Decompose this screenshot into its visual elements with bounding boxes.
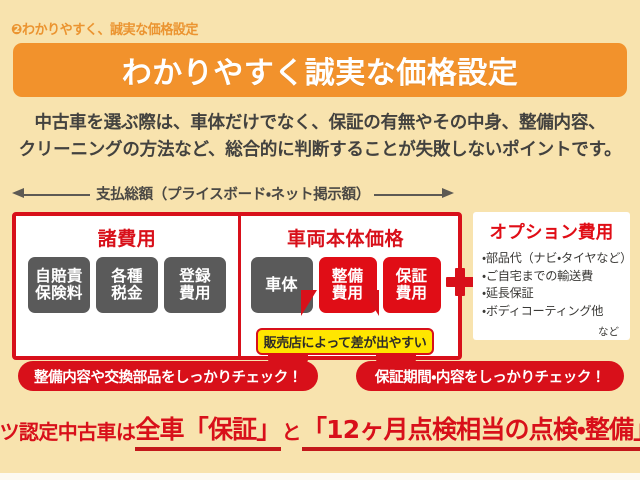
option-title: オプション費用 — [482, 219, 621, 244]
chip-line-2: 税金 — [111, 285, 143, 302]
option-list-item: ・ご自宅までの輸送費 — [482, 268, 621, 286]
option-list: ・部品代（ナビ・タイヤなど） ・ご自宅までの輸送費 ・延長保証 ・ボディコーティ… — [482, 250, 621, 321]
option-list-item: ・延長保証 — [482, 285, 621, 303]
bottom-strip — [0, 473, 640, 480]
section-kicker: ❷わかりやすく、誠実な価格設定 — [11, 18, 198, 38]
kicker-text: わかりやすく、誠実な価格設定 — [22, 22, 198, 38]
connector-wedge-warranty — [363, 290, 379, 316]
vehicle-chip-group: 車体 整備 費用 保証 費用 — [251, 257, 441, 313]
arrow-right-icon — [442, 188, 454, 198]
lead-line-1: 中古車を選ぶ際は、車体だけでなく、保証の有無やその中身、整備内容、 — [0, 110, 640, 137]
bottom-headline: ダイハツ認定中古車は 全車「保証」 と 「12ヶ月点検相当の点検・整備」 付き — [0, 410, 640, 450]
lead-paragraph: 中古車を選ぶ際は、車体だけでなく、保証の有無やその中身、整備内容、 クリーニング… — [0, 110, 640, 164]
total-amount-label: 支払総額（プライスボード・ネット掲示額） — [90, 183, 376, 204]
plus-icon — [446, 268, 474, 296]
check-banner-text: 整備内容や交換部品をしっかりチェック！ — [34, 366, 302, 387]
vehicle-title: 車両本体価格 — [287, 224, 404, 251]
fee-chip-tax: 各種 税金 — [96, 257, 158, 313]
chip-line-1: 車体 — [265, 276, 298, 294]
option-list-item: ・部品代（ナビ・タイヤなど） — [482, 250, 621, 268]
chip-line-2: 保険料 — [35, 285, 82, 302]
connector-wedge-maintenance — [301, 290, 317, 316]
lead-line-2: クリーニングの方法など、総合的に判断することが失敗しないポイントです。 — [0, 137, 640, 164]
banner-title: わかりやすく誠実な価格設定 — [122, 48, 519, 92]
chip-line-1: 各種 — [111, 268, 143, 285]
check-banner-maintenance: 整備内容や交換部品をしっかりチェック！ — [18, 361, 318, 391]
option-list-item: ・ボディコーティング他 — [482, 303, 621, 321]
dealer-variance-badge: 販売店によって差が出やすい — [256, 328, 434, 355]
fee-chip-registration: 登録 費用 — [164, 257, 226, 313]
chip-line-1: 登録 — [179, 268, 211, 285]
fees-chip-group: 自賠責 保険料 各種 税金 登録 費用 — [28, 257, 226, 313]
headline-part-1: ダイハツ認定中古車は — [0, 416, 135, 445]
chip-line-2: 費用 — [396, 285, 428, 302]
chip-line-1: 保証 — [396, 268, 428, 285]
bracket-line-right — [374, 194, 442, 196]
bracket-line-left — [24, 194, 92, 196]
chip-line-2: 費用 — [179, 285, 211, 302]
arrow-left-icon — [12, 188, 24, 198]
headline-part-2: 全車「保証」 — [135, 410, 280, 451]
infographic-root: ❷わかりやすく、誠実な価格設定 わかりやすく誠実な価格設定 中古車を選ぶ際は、車… — [0, 0, 640, 480]
total-amount-bracket: 支払総額（プライスボード・ネット掲示額） — [12, 183, 454, 207]
dealer-variance-text: 販売店によって差が出やすい — [264, 332, 427, 351]
vehicle-chip-warranty: 保証 費用 — [383, 257, 441, 313]
section-banner: わかりやすく誠実な価格設定 — [13, 43, 627, 97]
option-cost-box: オプション費用 ・部品代（ナビ・タイヤなど） ・ご自宅までの輸送費 ・延長保証 … — [473, 212, 630, 340]
check-banner-text: 保証期間・内容をしっかりチェック！ — [375, 366, 605, 387]
fees-title: 諸費用 — [98, 224, 157, 251]
chip-line-1: 自賠責 — [35, 268, 82, 285]
headline-part-3: 「12ヶ月点検相当の点検・整備」 — [302, 410, 640, 451]
fee-chip-jibaiseki: 自賠責 保険料 — [28, 257, 90, 313]
kicker-number: ❷ — [11, 22, 22, 38]
check-banner-warranty: 保証期間・内容をしっかりチェック！ — [356, 361, 624, 391]
option-footnote: など — [482, 324, 621, 339]
chip-line-1: 整備 — [332, 268, 364, 285]
fees-column: 諸費用 自賠責 保険料 各種 税金 登録 費用 — [16, 216, 241, 356]
chip-line-2: 費用 — [332, 285, 364, 302]
headline-conjunction: と — [281, 416, 302, 445]
